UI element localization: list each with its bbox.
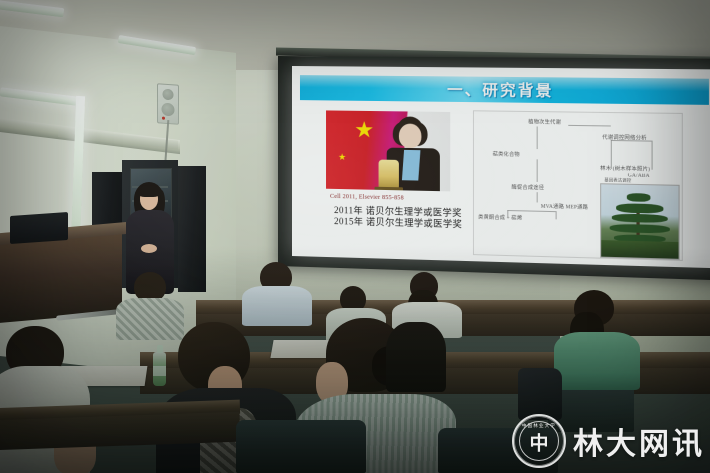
presenter-fringe (138, 185, 160, 197)
flow-node: MVA通路 MEP通路 (541, 203, 588, 211)
speaker-led (162, 117, 165, 120)
flow-connector (507, 210, 508, 218)
lecture-hall-photo: 一、研究背景 ★ ★ Cell 2011, Elsevier 855-858 2… (0, 0, 710, 473)
flow-connector (652, 141, 653, 170)
slide-title: 一、研究背景 (447, 78, 553, 101)
handbag (518, 368, 562, 420)
speaker-cone (163, 89, 174, 101)
audience-member (396, 272, 456, 324)
speaker-cone (162, 103, 175, 117)
audience-member (556, 290, 636, 380)
audience-member-dark (386, 322, 446, 392)
laureate-shirt (402, 150, 421, 181)
flow-connector (611, 140, 652, 142)
flow-connector (507, 210, 555, 212)
flag-star-large: ★ (354, 119, 374, 141)
tree-foliage (610, 224, 670, 234)
projected-slide: 一、研究背景 ★ ★ Cell 2011, Elsevier 855-858 2… (292, 66, 710, 268)
torso (554, 332, 640, 390)
tree-foliage (612, 213, 668, 223)
flow-connector (537, 192, 538, 202)
laureate-head (399, 124, 422, 149)
water-bottle (153, 352, 166, 386)
tree-specimen-photo (600, 183, 679, 260)
wall-speaker-icon (157, 83, 179, 125)
chair-back (236, 420, 366, 473)
audience-member (0, 330, 110, 473)
tree-foliage (627, 193, 651, 202)
flow-node: 萜类化合物 (493, 150, 520, 158)
flow-photo-caption: 林木 (树木样本照片) (600, 165, 650, 173)
audience-member (244, 262, 308, 318)
flag-star-small: ★ (338, 153, 346, 162)
flow-node: 类黄酮合成 + 萜烯 (478, 213, 522, 221)
flow-connector (537, 126, 538, 149)
slide-citation: Cell 2011, Elsevier 855-858 (330, 194, 404, 202)
slide-bullet: 2015年 诺贝尔生理学或医学奖 (334, 214, 462, 230)
tree-ground (601, 240, 678, 259)
slide-flowchart-panel: 植物次生代谢 代谢调控网络分析 萜类化合物 GA/ABA 酶促合成途径 MVA通… (473, 110, 683, 261)
bottle-label (153, 366, 166, 376)
flow-connector (537, 159, 538, 182)
trophy-icon (379, 160, 399, 189)
flow-node: 酶促合成途径 (511, 183, 544, 191)
flow-node: 植物次生代谢 (528, 118, 561, 126)
lectern-monitor (10, 212, 68, 244)
award-ceremony-photo: ★ ★ (326, 110, 450, 191)
flow-connector (556, 211, 557, 219)
chair-back (438, 428, 558, 473)
presenter-hands (141, 244, 157, 253)
flow-connector (568, 125, 611, 127)
slide-title-banner: 一、研究背景 (300, 75, 709, 105)
equipment-cabinet (178, 166, 206, 292)
tree-foliage (616, 203, 663, 213)
